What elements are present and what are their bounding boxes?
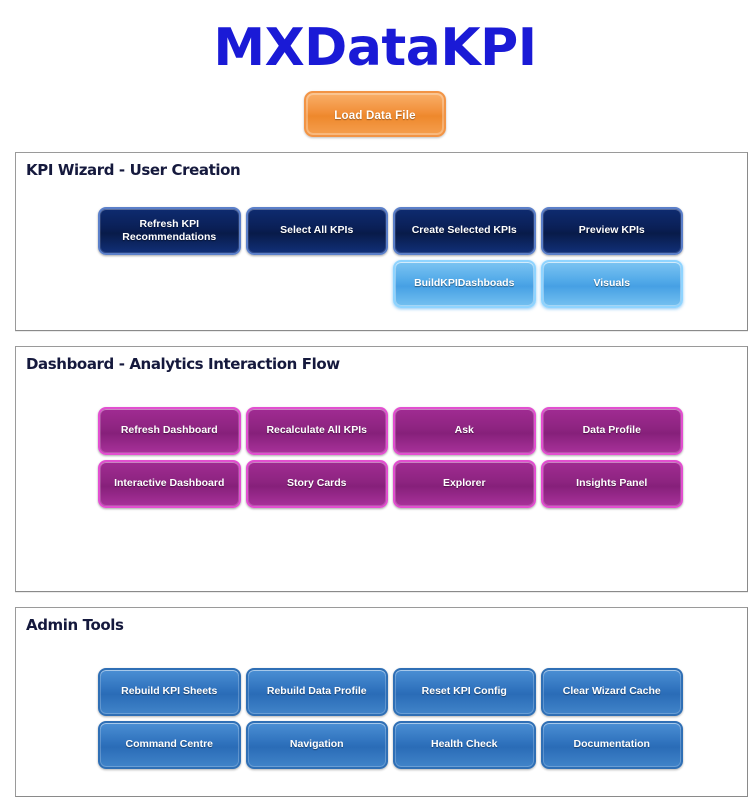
button-grid-dashboard-analytics: Refresh Dashboard Recalculate All KPIs A… <box>98 407 683 513</box>
data-profile-button[interactable]: Data Profile <box>541 407 684 455</box>
panel-title-dashboard-analytics: Dashboard - Analytics Interaction Flow <box>16 347 747 373</box>
app-title: MXDataKPI <box>0 0 750 74</box>
button-row: Refresh KPI Recommendations Select All K… <box>98 207 683 255</box>
insights-panel-button[interactable]: Insights Panel <box>541 460 684 508</box>
recalculate-all-kpis-button[interactable]: Recalculate All KPIs <box>246 407 389 455</box>
clear-wizard-cache-button[interactable]: Clear Wizard Cache <box>541 668 684 716</box>
story-cards-button[interactable]: Story Cards <box>246 460 389 508</box>
ask-button[interactable]: Ask <box>393 407 536 455</box>
rebuild-data-profile-button[interactable]: Rebuild Data Profile <box>246 668 389 716</box>
panel-title-kpi-wizard: KPI Wizard - User Creation <box>16 153 747 179</box>
reset-kpi-config-button[interactable]: Reset KPI Config <box>393 668 536 716</box>
refresh-kpi-recommendations-button[interactable]: Refresh KPI Recommendations <box>98 207 241 255</box>
panel-kpi-wizard: KPI Wizard - User Creation Refresh KPI R… <box>15 152 748 331</box>
load-data-toolbar: Load Data File <box>0 91 750 137</box>
build-kpi-dashboards-button[interactable]: BuildKPIDashboads <box>393 260 536 308</box>
panel-admin-tools: Admin Tools Rebuild KPI Sheets Rebuild D… <box>15 607 748 797</box>
health-check-button[interactable]: Health Check <box>393 721 536 769</box>
refresh-dashboard-button[interactable]: Refresh Dashboard <box>98 407 241 455</box>
button-grid-admin-tools: Rebuild KPI Sheets Rebuild Data Profile … <box>98 668 683 774</box>
interactive-dashboard-button[interactable]: Interactive Dashboard <box>98 460 241 508</box>
button-row: Interactive Dashboard Story Cards Explor… <box>98 460 683 508</box>
panel-dashboard-analytics: Dashboard - Analytics Interaction Flow R… <box>15 346 748 592</box>
button-row: Rebuild KPI Sheets Rebuild Data Profile … <box>98 668 683 716</box>
documentation-button[interactable]: Documentation <box>541 721 684 769</box>
button-grid-kpi-wizard: Refresh KPI Recommendations Select All K… <box>98 207 683 313</box>
explorer-button[interactable]: Explorer <box>393 460 536 508</box>
button-row: Refresh Dashboard Recalculate All KPIs A… <box>98 407 683 455</box>
navigation-button[interactable]: Navigation <box>246 721 389 769</box>
create-selected-kpis-button[interactable]: Create Selected KPIs <box>393 207 536 255</box>
command-centre-button[interactable]: Command Centre <box>98 721 241 769</box>
panel-title-admin-tools: Admin Tools <box>16 608 747 634</box>
visuals-button[interactable]: Visuals <box>541 260 684 308</box>
select-all-kpis-button[interactable]: Select All KPIs <box>246 207 389 255</box>
rebuild-kpi-sheets-button[interactable]: Rebuild KPI Sheets <box>98 668 241 716</box>
button-row: BuildKPIDashboads Visuals <box>98 260 683 308</box>
button-row: Command Centre Navigation Health Check D… <box>98 721 683 769</box>
load-data-file-button[interactable]: Load Data File <box>304 91 446 137</box>
preview-kpis-button[interactable]: Preview KPIs <box>541 207 684 255</box>
